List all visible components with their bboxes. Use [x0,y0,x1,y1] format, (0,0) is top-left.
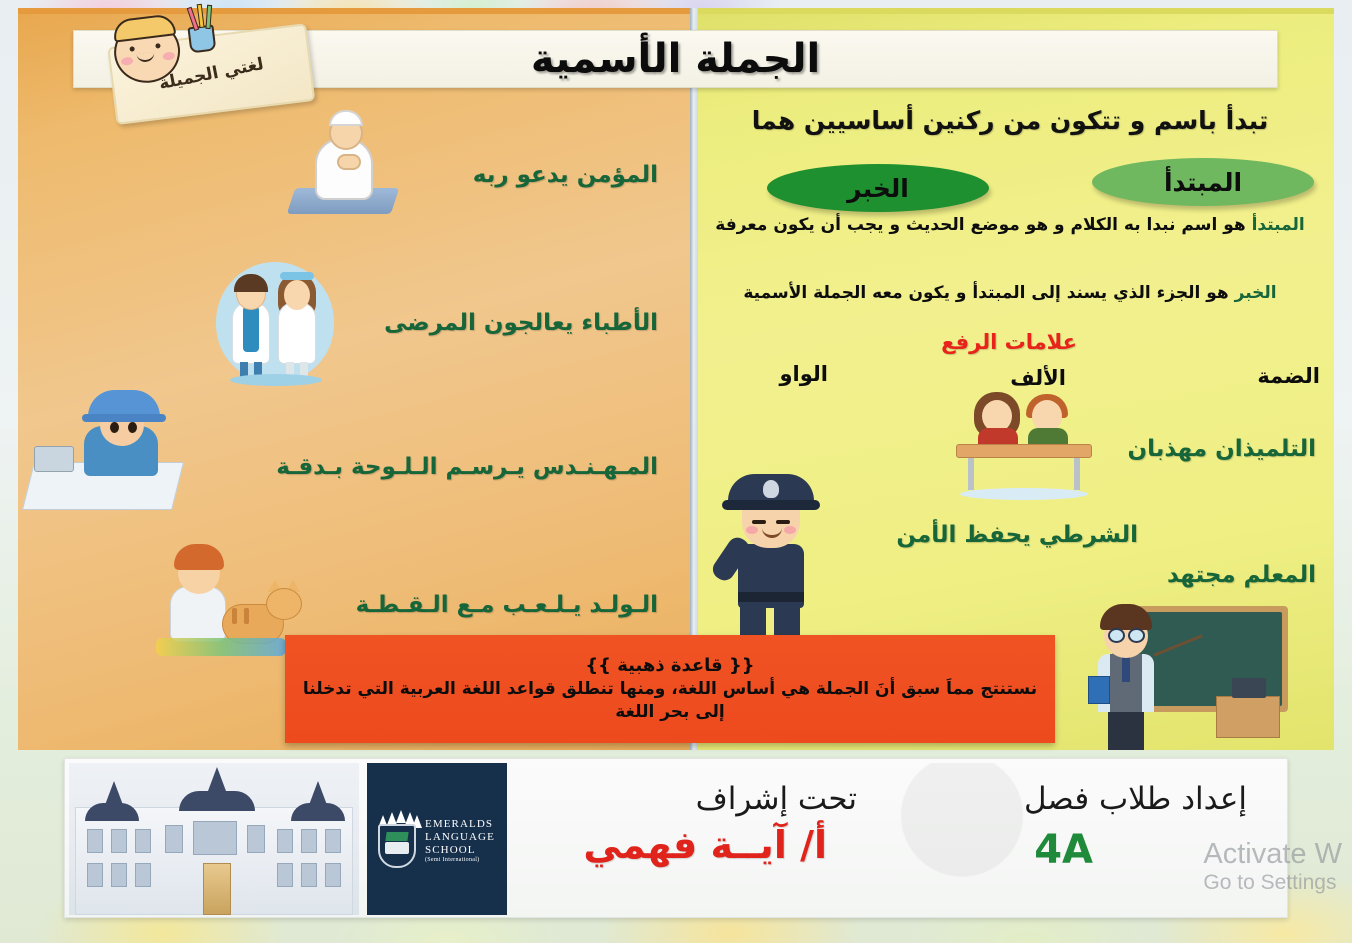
definition-khabar-keyword: الخبر [1235,283,1277,303]
mark-damma: الضمة [1257,364,1320,388]
windows-activation-watermark: Activate W Go to Settings [1203,839,1342,895]
right-example-2: الشرطي يحفظ الأمن [896,522,1138,548]
definition-mubtada-keyword: المبتدأ [1252,215,1305,235]
watermark-line-2: Go to Settings [1203,871,1342,895]
nominal-sentence-intro: تبدأ باسم و تتكون من ركنين أساسيين هما [710,106,1310,135]
marks-of-nominative-title: علامات الرفع [899,330,1119,354]
school-logo: EMERALDS LANGUAGE SCHOOL (Semi Internati… [367,763,507,915]
mark-waw: الواو [779,362,828,386]
teacher-name: أ/ آيــة فهمي [583,823,827,867]
grade-label: 4A [1034,827,1093,873]
right-example-3: المعلم مجتهد [1167,562,1316,588]
logo-line-4: (Semi International) [425,857,495,864]
prepared-by-label: إعداد طلاب فصل [1024,781,1247,817]
pencil-cup-icon [187,24,216,53]
golden-rule-text: نستنتج مماَ سبق أنَ الجملة هي أساس اللغة… [297,678,1043,724]
definition-mubtada-text: هو اسم نبدا به الكلام و هو موضع الحديث و… [715,215,1251,235]
left-example-4: الـولـد يـلـعـب مـع الـقـطـة [356,592,658,618]
two-students-desk-illustration [952,392,1096,504]
left-example-1: المؤمن يدعو ربه [473,162,658,188]
mark-alif: الألف [1010,366,1066,390]
poster-root: المؤمن يدعو ربه الأطباء يعالجون المرضى [18,8,1334,920]
definition-mubtada: المبتدأ هو اسم نبدا به الكلام و هو موضع … [698,214,1322,237]
school-crest-icon [375,812,419,870]
supervision-label: تحت إشراف [696,781,857,817]
logo-line-2: LANGUAGE [425,831,495,844]
logo-line-1: EMERALDS [425,818,495,831]
poster-footer: EMERALDS LANGUAGE SCHOOL (Semi Internati… [64,758,1288,918]
definition-khabar-text: هو الجزء الذي يسند إلى المبتدأ و يكون مع… [743,283,1234,303]
right-example-1: التلميذان مهذبان [1127,436,1316,462]
pill-khabar: الخبر [767,164,989,212]
pill-mubtada: المبتدأ [1092,158,1314,206]
police-officer-illustration [718,472,828,654]
golden-rule-title: {{ قاعدة ذهبية }} [585,655,754,676]
definition-khabar: الخبر هو الجزء الذي يسند إلى المبتدأ و ي… [698,282,1322,305]
praying-boy-illustration [283,110,413,222]
doctors-illustration [216,262,334,388]
teacher-blackboard-illustration [1078,592,1318,750]
golden-rule-box: {{ قاعدة ذهبية }} نستنتج مماَ سبق أنَ ال… [285,635,1055,743]
pill-mubtada-label: المبتدأ [1164,168,1242,197]
left-example-3: المـهـنـدس يـرسـم الـلـوحة بـدقـة [276,454,658,480]
page-title: الجملة الأسمية [531,36,820,82]
logo-line-3: SCHOOL [425,844,495,857]
pill-khabar-label: الخبر [847,174,909,203]
watermark-line-1: Activate W [1203,839,1342,871]
school-building-photo [69,763,359,915]
engineer-boy-illustration [28,396,196,526]
left-example-2: الأطباء يعالجون المرضى [384,310,658,336]
